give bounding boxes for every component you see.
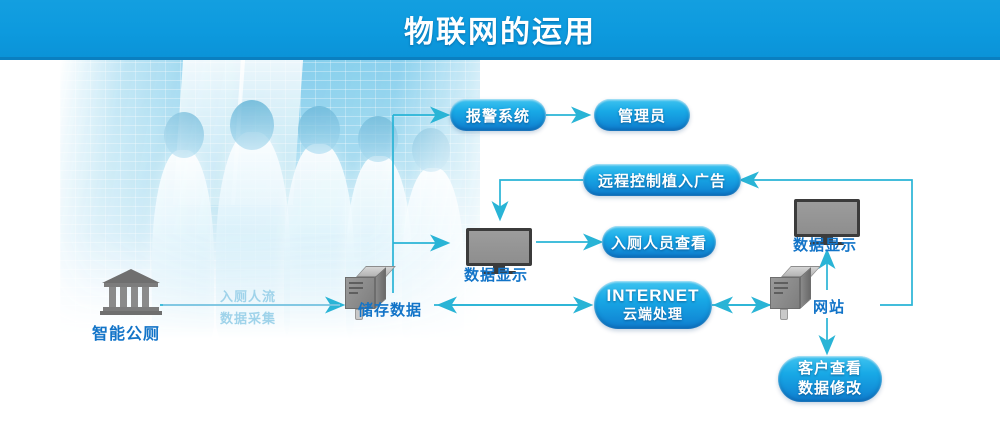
node-administrator-label: 管理员 [618,105,666,126]
node-customer-view[interactable]: 客户查看 数据修改 [778,356,882,402]
node-remote-ad-label: 远程控制植入广告 [598,170,726,191]
building-icon [100,268,162,316]
node-internet-label: INTERNET [607,286,700,305]
node-remote-ad[interactable]: 远程控制植入广告 [583,164,741,196]
photo-person-head [358,116,398,162]
node-toilet-user-view-label: 入厕人员查看 [611,232,707,253]
node-internet-sublabel: 云端处理 [623,305,683,324]
label-website: 网站 [813,296,845,317]
server-icon-website [770,266,811,310]
infographic-canvas: 物联网的运用 [0,0,1000,428]
node-internet[interactable]: INTERNET 云端处理 [594,281,712,329]
node-alarm-system-label: 报警系统 [466,105,530,126]
node-customer-view-sublabel: 数据修改 [798,379,862,399]
photo-person [284,144,354,346]
header-banner: 物联网的运用 [0,0,1000,60]
line-remotead-to-monitor [500,180,585,218]
photo-person-head [164,112,204,158]
photo-person-head [298,106,340,154]
node-toilet-user-view[interactable]: 入厕人员查看 [602,226,716,258]
caption-data-collection: 数据采集 [220,308,276,327]
photo-person-head [230,100,274,150]
caption-people-flow: 入厕人流 [220,286,276,305]
node-administrator[interactable]: 管理员 [594,99,690,131]
monitor-icon-data-display-right [794,199,860,237]
label-smart-toilet: 智能公厕 [92,320,160,344]
label-data-display-left: 数据显示 [464,264,528,285]
page-title: 物联网的运用 [0,0,1000,57]
photo-person-head [412,128,450,172]
monitor-icon-data-display-left [466,228,532,266]
node-alarm-system[interactable]: 报警系统 [450,99,546,131]
label-store-data: 储存数据 [358,299,422,320]
label-data-display-right: 数据显示 [793,234,857,255]
node-customer-view-label: 客户查看 [798,359,862,379]
photo-person [152,150,214,346]
